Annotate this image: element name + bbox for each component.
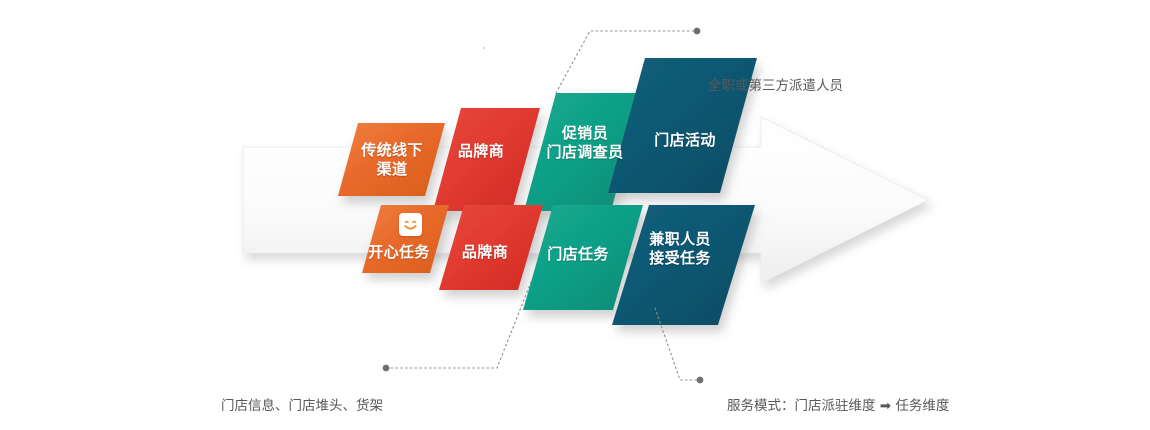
smiley-icon	[399, 213, 422, 236]
top-row-shapes	[338, 58, 757, 211]
connector-dot-data-collection	[383, 365, 390, 372]
service-model-annotation: 服务模式：门店派驻维度 ➡ 任务维度 人员合作：长期合约 ➡ 短期碎片工单模式	[727, 341, 976, 430]
staffing-annotation: 全职或第三方派遣人员	[708, 21, 843, 151]
staffing-annotation-line-1: 全职或第三方派遣人员	[708, 73, 843, 99]
connector-dot-staffing	[694, 28, 701, 35]
service-model-line-1: 服务模式：门店派驻维度 ➡ 任务维度	[727, 393, 976, 419]
data-collection-annotation: 门店信息、门店堆头、货架 数据采集、销量上报	[221, 341, 383, 430]
data-collection-line-1: 门店信息、门店堆头、货架	[221, 393, 383, 419]
diagram-canvas: 传统线下 渠道 品牌商 促销员 门店调查员 门店活动 开心任务 品牌商 门店任务…	[0, 0, 1150, 430]
connector-data-collection	[388, 282, 531, 368]
diagram-graphics	[0, 0, 1150, 430]
connector-dot-service-model	[697, 377, 704, 384]
stray-speck	[483, 47, 485, 49]
